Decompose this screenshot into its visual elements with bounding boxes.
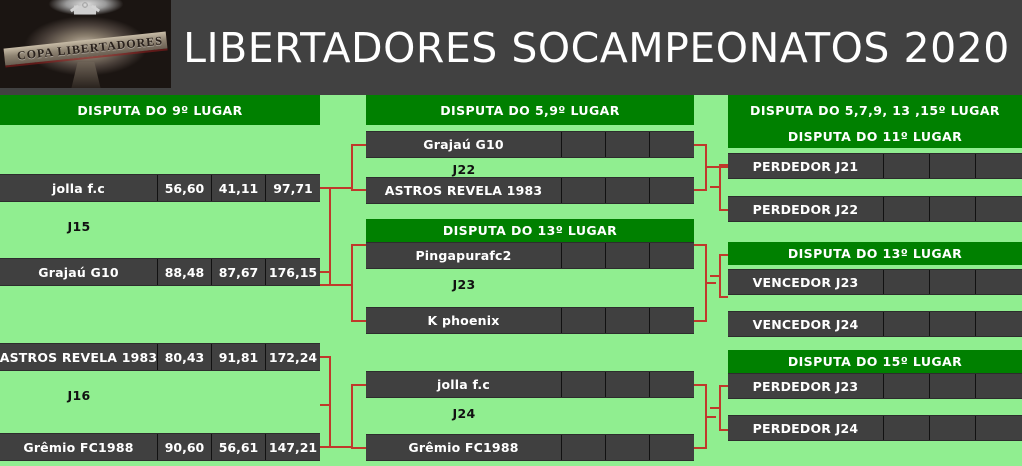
team-total-score <box>650 132 694 157</box>
team-leg2-score <box>606 243 650 268</box>
bracket-board: DISPUTA DO 9º LUGAR jolla f.c 56,60 41,1… <box>0 95 1022 466</box>
team-name: jolla f.c <box>366 372 562 397</box>
team-leg2-score <box>606 308 650 333</box>
team-leg1-score: 90,60 <box>158 434 212 460</box>
team-leg1-score <box>562 243 606 268</box>
team-name: K phoenix <box>366 308 562 333</box>
table-row[interactable]: jolla f.c <box>366 371 694 398</box>
team-leg1-score <box>884 197 930 221</box>
match-label-j24: J24 <box>366 402 562 424</box>
team-leg1-score <box>562 372 606 397</box>
trophy-figure-icon <box>74 0 96 26</box>
team-leg2-score: 56,61 <box>212 434 266 460</box>
table-row[interactable]: Grajaú G10 88,48 87,67 176,15 <box>0 258 320 286</box>
section-title-13th-place-mid: DISPUTA DO 13º LUGAR <box>366 219 694 242</box>
team-leg1-score <box>884 374 930 398</box>
team-leg2-score: 91,81 <box>212 344 266 370</box>
team-leg1-score <box>562 178 606 203</box>
team-name: jolla f.c <box>0 175 158 201</box>
team-name: ASTROS REVELA 1983 <box>0 344 158 370</box>
team-leg1-score: 80,43 <box>158 344 212 370</box>
team-leg1-score: 88,48 <box>158 259 212 285</box>
team-leg2-score <box>930 416 976 440</box>
team-leg2-score <box>930 374 976 398</box>
team-leg1-score <box>562 435 606 460</box>
section-title-5-9th-place: DISPUTA DO 5,9º LUGAR <box>366 95 694 125</box>
team-total-score: 97,71 <box>266 175 320 201</box>
team-name: PERDEDOR J24 <box>728 416 884 440</box>
trophy-stem <box>60 62 112 88</box>
team-total-score <box>650 178 694 203</box>
team-total-score: 176,15 <box>266 259 320 285</box>
team-total-score <box>650 435 694 460</box>
team-leg2-score <box>606 435 650 460</box>
team-total-score <box>976 416 1022 440</box>
table-row[interactable]: VENCEDOR J24 <box>728 311 1022 337</box>
team-total-score <box>650 243 694 268</box>
team-total-score: 147,21 <box>266 434 320 460</box>
team-leg1-score <box>884 270 930 294</box>
team-leg1-score <box>884 416 930 440</box>
table-row[interactable]: PERDEDOR J21 <box>728 153 1022 179</box>
team-leg2-score <box>930 312 976 336</box>
team-total-score <box>976 197 1022 221</box>
team-name: PERDEDOR J22 <box>728 197 884 221</box>
team-name: Grajaú G10 <box>366 132 562 157</box>
match-label-j16: J16 <box>0 385 158 405</box>
team-leg2-score: 87,67 <box>212 259 266 285</box>
team-leg1-score <box>884 312 930 336</box>
team-leg2-score <box>930 270 976 294</box>
table-row[interactable]: Grêmio FC1988 90,60 56,61 147,21 <box>0 433 320 461</box>
team-name: Pingapurafc2 <box>366 243 562 268</box>
copa-libertadores-trophy-icon: COPA LIBERTADORES <box>0 0 171 88</box>
team-name: PERDEDOR J23 <box>728 374 884 398</box>
team-name: Grêmio FC1988 <box>366 435 562 460</box>
team-leg1-score <box>884 154 930 178</box>
team-leg2-score <box>606 372 650 397</box>
team-name: VENCEDOR J24 <box>728 312 884 336</box>
team-total-score <box>650 372 694 397</box>
trophy-band-label: COPA LIBERTADORES <box>10 32 171 66</box>
table-row[interactable]: ASTROS REVELA 1983 <box>366 177 694 204</box>
section-title-5-7-9-13-15th-place: DISPUTA DO 5,7,9, 13 ,15º LUGAR <box>728 95 1022 125</box>
table-row[interactable]: Pingapurafc2 <box>366 242 694 269</box>
team-total-score: 172,24 <box>266 344 320 370</box>
team-total-score <box>976 312 1022 336</box>
team-leg1-score: 56,60 <box>158 175 212 201</box>
section-title-15th-place: DISPUTA DO 15º LUGAR <box>728 350 1022 373</box>
table-row[interactable]: Grajaú G10 <box>366 131 694 158</box>
team-total-score <box>976 154 1022 178</box>
team-leg2-score <box>930 154 976 178</box>
table-row[interactable]: PERDEDOR J22 <box>728 196 1022 222</box>
column-right: DISPUTA DO 5,7,9, 13 ,15º LUGAR DISPUTA … <box>728 95 1022 466</box>
match-label-j23: J23 <box>366 273 562 295</box>
column-left: DISPUTA DO 9º LUGAR jolla f.c 56,60 41,1… <box>0 95 320 466</box>
page-title: LIBERTADORES SOCAMPEONATOS 2020 <box>171 0 1022 95</box>
team-name: VENCEDOR J23 <box>728 270 884 294</box>
section-title-11th-place: DISPUTA DO 11º LUGAR <box>728 125 1022 148</box>
table-row[interactable]: VENCEDOR J23 <box>728 269 1022 295</box>
table-row[interactable]: K phoenix <box>366 307 694 334</box>
section-title-9th-place: DISPUTA DO 9º LUGAR <box>0 95 320 125</box>
table-row[interactable]: Grêmio FC1988 <box>366 434 694 461</box>
match-label-j15: J15 <box>0 216 158 236</box>
table-row[interactable]: ASTROS REVELA 1983 80,43 91,81 172,24 <box>0 343 320 371</box>
team-name: ASTROS REVELA 1983 <box>366 178 562 203</box>
team-name: Grajaú G10 <box>0 259 158 285</box>
team-total-score <box>976 374 1022 398</box>
team-name: PERDEDOR J21 <box>728 154 884 178</box>
table-row[interactable]: PERDEDOR J24 <box>728 415 1022 441</box>
team-name: Grêmio FC1988 <box>0 434 158 460</box>
team-leg1-score <box>562 308 606 333</box>
team-total-score <box>976 270 1022 294</box>
table-row[interactable]: jolla f.c 56,60 41,11 97,71 <box>0 174 320 202</box>
section-title-13th-place-right: DISPUTA DO 13º LUGAR <box>728 242 1022 265</box>
team-total-score <box>650 308 694 333</box>
team-leg2-score <box>606 178 650 203</box>
team-leg1-score <box>562 132 606 157</box>
table-row[interactable]: PERDEDOR J23 <box>728 373 1022 399</box>
page-header: COPA LIBERTADORES LIBERTADORES SOCAMPEON… <box>0 0 1022 95</box>
column-mid: DISPUTA DO 5,9º LUGAR Grajaú G10 J22 AST… <box>366 95 694 466</box>
team-leg2-score <box>930 197 976 221</box>
team-leg2-score: 41,11 <box>212 175 266 201</box>
team-leg2-score <box>606 132 650 157</box>
